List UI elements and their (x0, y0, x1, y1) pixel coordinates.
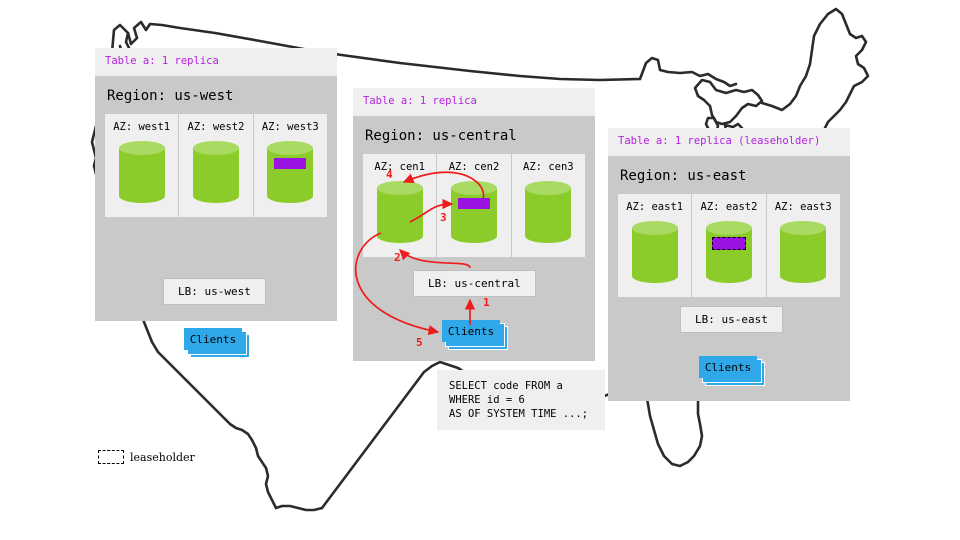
legend-leaseholder: leaseholder (98, 450, 195, 464)
node-cylinder-west1[interactable] (119, 141, 165, 203)
node-cylinder-cen2[interactable] (451, 181, 497, 243)
cylinder-body (525, 188, 571, 236)
az-east1[interactable]: AZ: east1 (618, 194, 691, 297)
cylinder-top (119, 141, 165, 155)
clients-us-east[interactable]: Clients (699, 356, 757, 378)
az-cen2[interactable]: AZ: cen2 (436, 154, 510, 257)
region-panel-us-east: Table a: 1 replica (leaseholder) Region:… (608, 128, 850, 401)
clients-label-us-west: Clients (184, 328, 242, 350)
az-label-west3: AZ: west3 (262, 121, 319, 133)
az-label-west2: AZ: west2 (188, 121, 245, 133)
node-cylinder-cen3[interactable] (525, 181, 571, 243)
az-cen3[interactable]: AZ: cen3 (511, 154, 585, 257)
clients-us-central[interactable]: Clients (442, 320, 500, 342)
replica-marker-west3 (274, 158, 306, 169)
diagram-canvas: Table a: 1 replica Region: us-west AZ: w… (0, 0, 960, 540)
node-cylinder-west2[interactable] (193, 141, 239, 203)
clients-label-us-east: Clients (699, 356, 757, 378)
legend-label: leaseholder (130, 451, 195, 464)
az-row-us-central: AZ: cen1 AZ: cen2 (363, 154, 585, 257)
arrow-number-5: 5 (416, 336, 423, 349)
arrow-number-2: 2 (394, 251, 401, 264)
az-label-cen3: AZ: cen3 (523, 161, 574, 173)
cylinder-body (193, 148, 239, 196)
az-label-cen2: AZ: cen2 (449, 161, 500, 173)
region-header-us-west: Table a: 1 replica (95, 48, 337, 76)
arrow-number-3: 3 (440, 211, 447, 224)
az-east2[interactable]: AZ: east2 (691, 194, 765, 297)
region-title-us-central: Region: us-central (353, 116, 595, 154)
arrow-number-4: 4 (386, 168, 393, 181)
az-east3[interactable]: AZ: east3 (766, 194, 840, 297)
az-west2[interactable]: AZ: west2 (178, 114, 252, 217)
az-label-west1: AZ: west1 (113, 121, 170, 133)
node-cylinder-east3[interactable] (780, 221, 826, 283)
region-header-us-central: Table a: 1 replica (353, 88, 595, 116)
az-label-east2: AZ: east2 (701, 201, 758, 213)
az-label-east1: AZ: east1 (626, 201, 683, 213)
clients-label-us-central: Clients (442, 320, 500, 342)
cylinder-top (193, 141, 239, 155)
az-row-us-west: AZ: west1 AZ: west2 AZ (105, 114, 327, 217)
cylinder-body (267, 148, 313, 196)
node-cylinder-cen1[interactable] (377, 181, 423, 243)
cylinder-top (525, 181, 571, 195)
cylinder-top (706, 221, 752, 235)
cylinder-top (780, 221, 826, 235)
region-panel-us-central: Table a: 1 replica Region: us-central AZ… (353, 88, 595, 361)
cylinder-body (451, 188, 497, 236)
clients-us-west[interactable]: Clients (184, 328, 242, 350)
region-title-us-west: Region: us-west (95, 76, 337, 114)
load-balancer-us-east[interactable]: LB: us-east (680, 306, 783, 333)
cylinder-top (451, 181, 497, 195)
cylinder-top (267, 141, 313, 155)
az-west3[interactable]: AZ: west3 (253, 114, 327, 217)
cylinder-body (119, 148, 165, 196)
cylinder-top (377, 181, 423, 195)
az-label-east3: AZ: east3 (775, 201, 832, 213)
az-label-cen1: AZ: cen1 (374, 161, 425, 173)
replica-marker-cen2 (458, 198, 490, 209)
region-panel-us-west: Table a: 1 replica Region: us-west AZ: w… (95, 48, 337, 321)
region-title-us-east: Region: us-east (608, 156, 850, 194)
az-row-us-east: AZ: east1 AZ: east2 (618, 194, 840, 297)
node-cylinder-east2[interactable] (706, 221, 752, 283)
load-balancer-us-central[interactable]: LB: us-central (413, 270, 536, 297)
sql-query-note: SELECT code FROM a WHERE id = 6 AS OF SY… (437, 370, 605, 430)
load-balancer-us-west[interactable]: LB: us-west (163, 278, 266, 305)
node-cylinder-west3[interactable] (267, 141, 313, 203)
az-west1[interactable]: AZ: west1 (105, 114, 178, 217)
az-cen1[interactable]: AZ: cen1 (363, 154, 436, 257)
cylinder-top (632, 221, 678, 235)
leaseholder-marker-east2 (712, 237, 746, 250)
arrow-number-1: 1 (483, 296, 490, 309)
region-header-us-east: Table a: 1 replica (leaseholder) (608, 128, 850, 156)
cylinder-body (780, 228, 826, 276)
cylinder-body (377, 188, 423, 236)
node-cylinder-east1[interactable] (632, 221, 678, 283)
leaseholder-swatch-icon (98, 450, 124, 464)
cylinder-body (632, 228, 678, 276)
cylinder-body (706, 228, 752, 276)
